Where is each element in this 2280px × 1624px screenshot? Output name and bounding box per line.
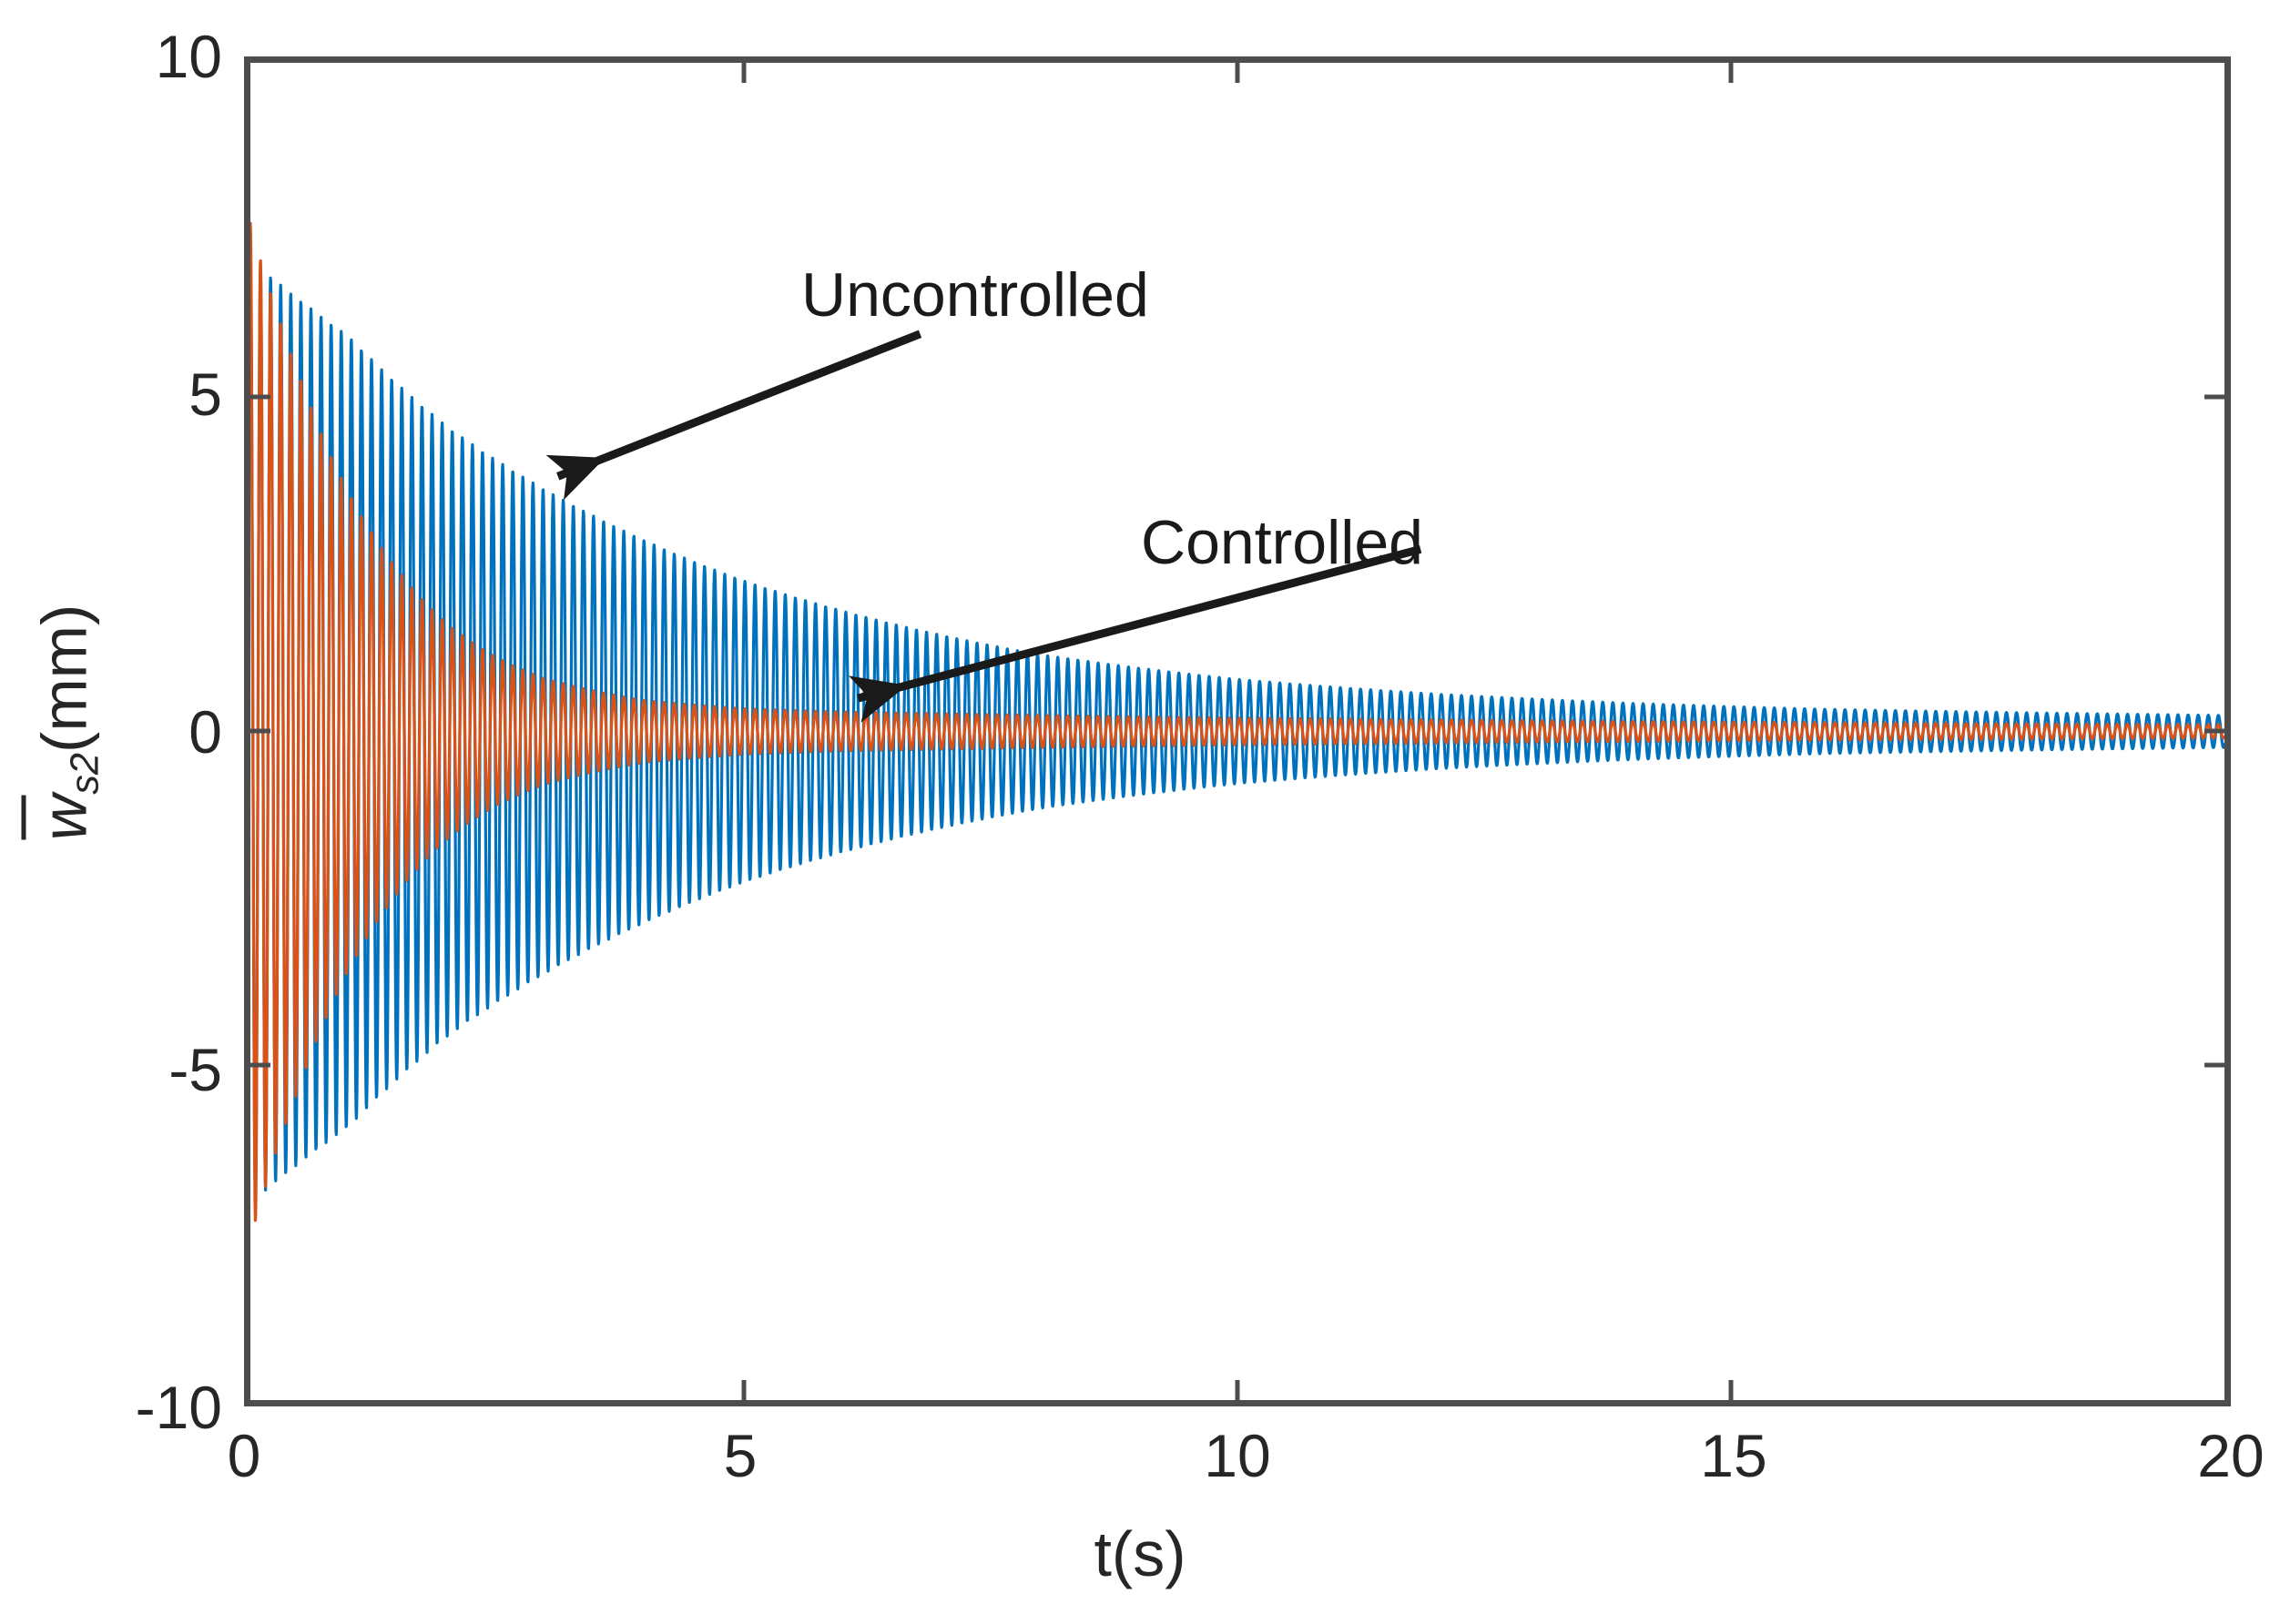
y-axis-symbol-overbar-group: w (27, 795, 100, 841)
y-axis-symbol: w (28, 795, 99, 841)
y-tick-label-neg5: -5 (40, 1040, 222, 1100)
x-tick-label-10: 10 (1128, 1426, 1347, 1486)
x-tick-label-15: 15 (1624, 1426, 1843, 1486)
overbar-glyph (21, 796, 25, 840)
series-group (250, 223, 2224, 1220)
y-tick-label-10: 10 (40, 26, 222, 86)
x-tick-label-0: 0 (135, 1426, 353, 1486)
y-axis-label: ws2(mm) (27, 431, 121, 1014)
plot-area (244, 56, 2231, 1406)
plot-svg (250, 63, 2224, 1400)
annotation-label-controlled: Controlled (1141, 510, 1423, 575)
x-tick-label-5: 5 (631, 1426, 850, 1486)
y-axis-units: (mm) (28, 604, 99, 753)
y-axis-subscript: s2 (64, 753, 107, 795)
x-tick-label-20: 20 (2122, 1426, 2280, 1486)
y-tick-label-5: 5 (40, 364, 222, 424)
annotation-label-uncontrolled: Uncontrolled (801, 262, 1149, 328)
figure-canvas: 10 5 0 -5 -10 0 5 10 15 20 t(s) ws2(mm) (0, 0, 2280, 1624)
x-axis-label: t(s) (0, 1518, 2280, 1589)
